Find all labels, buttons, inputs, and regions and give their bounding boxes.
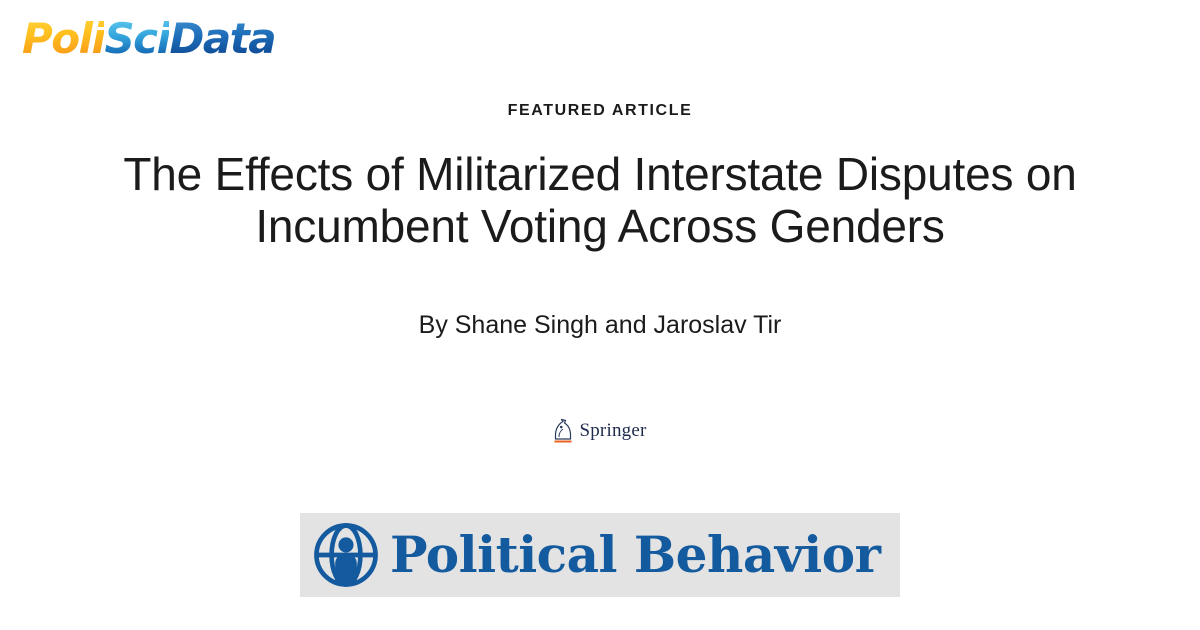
brand-logo[interactable]: PoliSciData — [22, 18, 275, 60]
featured-article-eyebrow: FEATURED ARTICLE — [0, 102, 1200, 120]
publisher-logo: Springer — [0, 418, 1200, 444]
globe-person-icon — [310, 519, 382, 591]
brand-logo-segment-sci: Sci — [104, 18, 169, 60]
journal-banner: Political Behavior — [300, 513, 900, 597]
journal-name: Political Behavior — [390, 530, 881, 580]
article-title: The Effects of Militarized Interstate Di… — [100, 148, 1100, 252]
springer-knight-icon — [553, 418, 573, 444]
publisher-name: Springer — [579, 421, 646, 441]
brand-logo-segment-data: Data — [169, 18, 275, 60]
article-byline: By Shane Singh and Jaroslav Tir — [0, 311, 1200, 340]
featured-article-card: PoliSciData FEATURED ARTICLE The Effects… — [0, 0, 1200, 630]
brand-logo-segment-poli: Poli — [22, 18, 104, 60]
